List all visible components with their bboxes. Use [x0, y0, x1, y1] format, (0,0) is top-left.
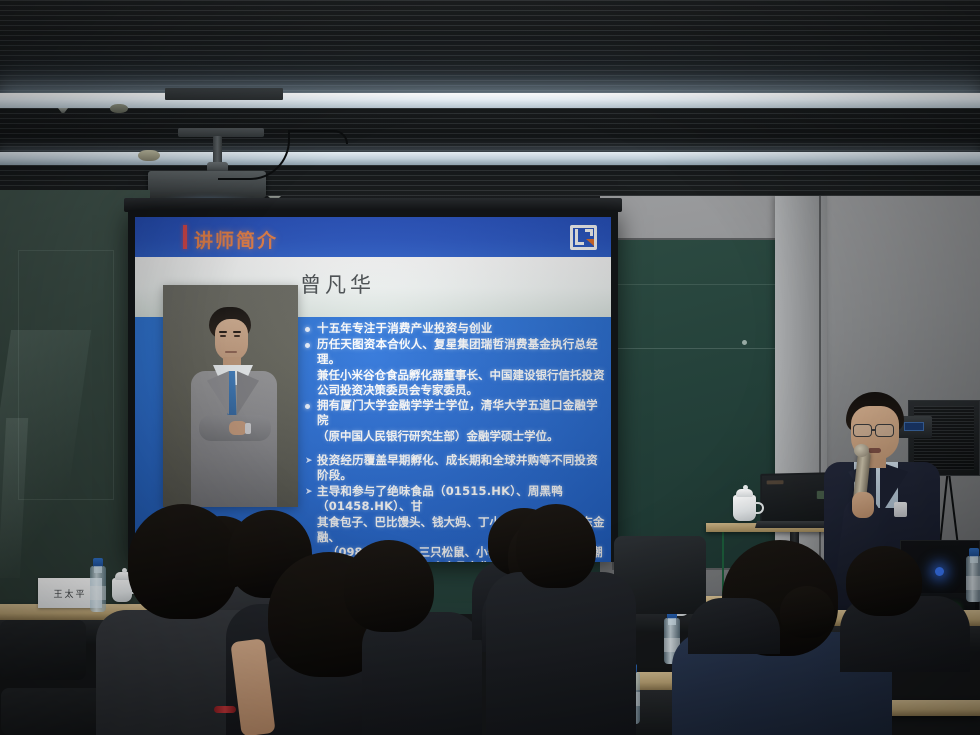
nameplate-text: 王太平 [53, 587, 86, 600]
attendee-body-right [486, 572, 636, 735]
lapel-badge [894, 502, 907, 517]
attendee-head-right [516, 504, 596, 588]
ceiling-panel-top [0, 0, 980, 92]
bullet-continuation: （原中国人民银行研究生部）金融学硕士学位。 [317, 429, 605, 444]
water-bottle [966, 556, 980, 602]
attendee-head-masked [780, 586, 834, 638]
attendee-head-front-left [128, 504, 238, 619]
projector-cable-2 [290, 130, 348, 144]
microphone-head-icon [854, 444, 869, 457]
speaker-portrait-photo [163, 285, 298, 507]
slide-header-title: 讲师简介 [194, 226, 278, 253]
lecture-hall-scene: 讲师简介 曾凡华 [0, 0, 980, 735]
bullet-item-arrow: ➤投资经历覆盖早期孵化、成长期和全球并购等不同投资阶段。 [305, 453, 605, 483]
ceiling-dome-icon [138, 150, 160, 161]
slide-header: 讲师简介 [135, 217, 611, 257]
ceiling-light-strip-1 [0, 93, 980, 108]
teacup [733, 495, 756, 521]
bullet-continuation: 公司投资决策委员会专家委员。 [317, 383, 605, 398]
ceiling-panel-mid [0, 108, 980, 146]
ceiling [0, 0, 980, 212]
water-bottle [90, 566, 106, 612]
bullet-item: 十五年专注于消费产业投资与创业 [305, 321, 605, 336]
slide-speaker-name: 曾凡华 [300, 269, 375, 299]
chair [0, 620, 86, 680]
attendee-body [688, 598, 780, 654]
eyeglasses-icon [853, 424, 872, 437]
attendee-head [344, 540, 434, 632]
red-bracelet [214, 706, 236, 713]
bullet-continuation: 兼任小米谷仓食品孵化器董事长、中国建设银行信托投资 [317, 368, 605, 383]
header-accent-bar [183, 225, 187, 249]
bullet-item: 历任天图资本合伙人、复星集团瑞哲消费基金执行总经理。 [305, 337, 605, 367]
lc-logo-icon [570, 225, 597, 250]
power-led-blue [935, 567, 944, 576]
bullet-item: 拥有厦门大学金融学学士学位，清华大学五道口金融学院 [305, 398, 605, 428]
attendee-head [846, 546, 922, 616]
ceiling-mount-plate [165, 88, 283, 100]
smoke-detector-icon [110, 104, 128, 113]
